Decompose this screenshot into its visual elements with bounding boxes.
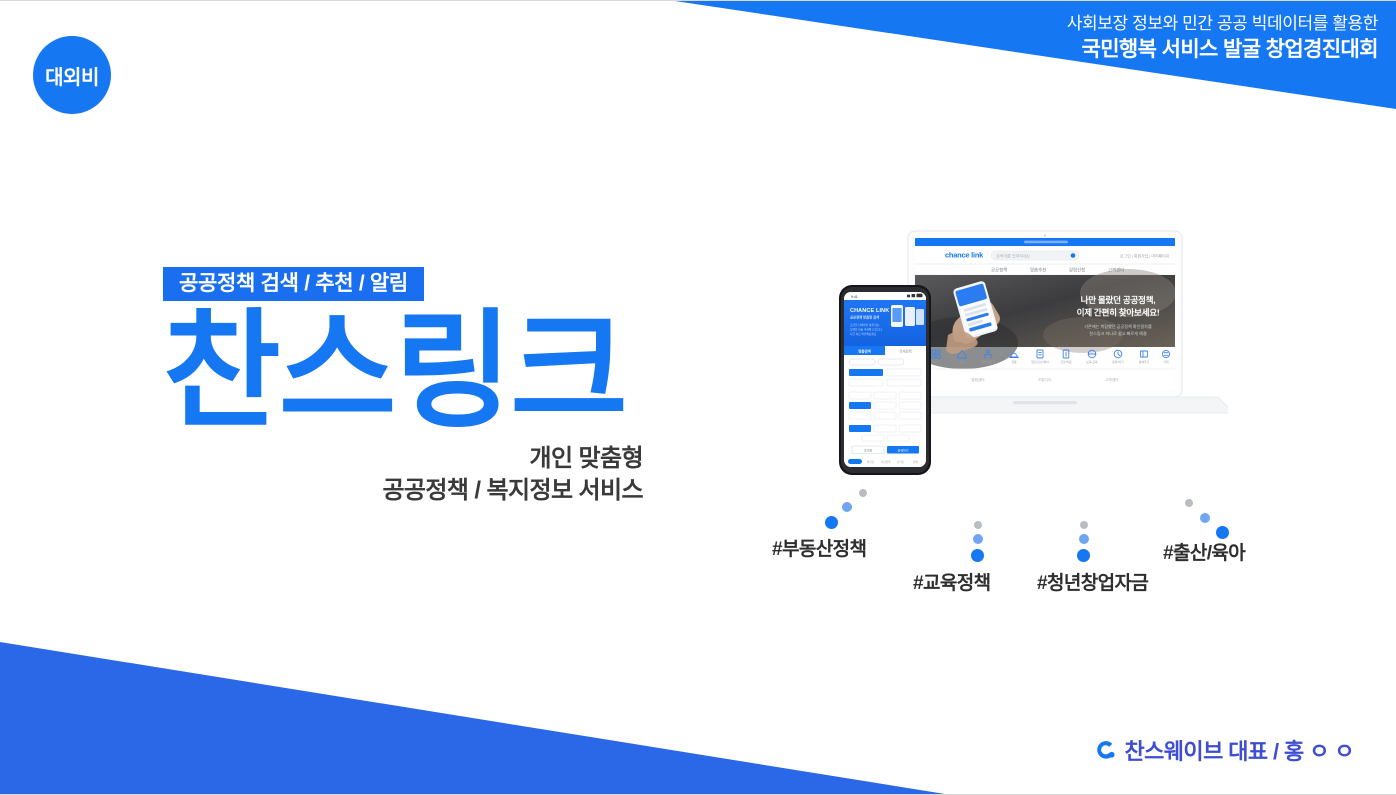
svg-text:교육: 교육: [959, 360, 965, 364]
svg-text:전체정책: 전체정책: [899, 348, 911, 353]
brand-title: 찬스링크: [163, 305, 663, 439]
svg-text:문화/여가: 문화/여가: [1112, 359, 1124, 364]
svg-text:맞춤추천: 맞춤추천: [1030, 267, 1046, 274]
svg-text:지금 바로 확인해보세요: 지금 바로 확인해보세요: [850, 332, 877, 336]
svg-text:일자리/창업: 일자리/창업: [981, 359, 995, 364]
svg-text:커뮤니티: 커뮤니티: [1038, 377, 1051, 382]
hashtag-group-0[interactable]: #부동산정책: [772, 489, 912, 559]
hashtag-label-3: #출산/육아: [1163, 538, 1245, 565]
svg-text:공공정책 맞춤형 검색: 공공정책 맞춤형 검색: [850, 315, 879, 320]
dot-medium: [1079, 534, 1089, 544]
svg-text:전체: 전체: [913, 460, 918, 464]
dot-small: [974, 521, 982, 529]
bottom-diagonal-decoration: [0, 624, 1396, 794]
svg-text:찬스링크 하나로 쉽고 빠르게 해결: 찬스링크 하나로 쉽고 빠르게 해결: [1089, 330, 1147, 336]
phone-app-title: CHANCE LINK: [850, 308, 889, 314]
svg-text:주거: 주거: [933, 359, 939, 364]
competition-header: 사회보장 정보와 민간 공공 빅데이터를 활용한 국민행복 서비스 발굴 창업경…: [1067, 13, 1378, 64]
svg-text:금융: 금융: [1011, 360, 1017, 364]
tagline-badge: 공공정책 검색 / 추천 / 알림: [163, 267, 424, 301]
svg-text:9:41: 9:41: [851, 295, 858, 299]
hashtag-label-0: #부동산정책: [772, 534, 866, 561]
svg-text:최신순: 최신순: [867, 460, 875, 464]
svg-text:기타: 기타: [1163, 359, 1169, 364]
hashtag-group-3[interactable]: #출산/육아: [1163, 499, 1303, 569]
confidential-badge-label: 대외비: [45, 61, 99, 90]
svg-text:생애주기: 생애주기: [1139, 359, 1150, 364]
hero-headline-line2: 이제 간편히 찾아보세요!: [1077, 307, 1160, 318]
competition-header-subtitle: 사회보장 정보와 민간 공공 빅데이터를 활용한: [1067, 13, 1378, 35]
phone-mockup: 9:41 CHANCE LINK 공공정책 맞춤형 검색 조건을 선택하면 내게…: [839, 285, 931, 480]
confidential-badge: 대외비: [33, 36, 111, 114]
svg-text:건강/의료: 건강/의료: [1060, 359, 1072, 364]
svg-text:조건을 선택하면 내게 맞는: 조건을 선택하면 내게 맞는: [850, 323, 880, 327]
hashtag-label-1: #교육정책: [913, 568, 991, 595]
svg-text:로그인 | 회원가입 | 마이페이지: 로그인 | 회원가입 | 마이페이지: [1120, 253, 1170, 258]
site-search-icon: [1071, 253, 1076, 258]
svg-text:마감임박: 마감임박: [881, 460, 891, 464]
dot-medium: [1200, 513, 1210, 523]
svg-text:정책을 자동 추천해 드립니다: 정책을 자동 추천해 드립니다: [850, 328, 882, 332]
footer: 찬스웨이브 대표 / 홍 ㅇ ㅇ: [1094, 734, 1354, 766]
svg-text:인기순: 인기순: [897, 460, 905, 464]
dot-medium: [842, 502, 852, 512]
chance-link-c-logo-icon: [1094, 738, 1116, 762]
dot-small: [859, 489, 867, 497]
hashtag-group-1[interactable]: #교육정책: [913, 521, 1053, 591]
svg-text:알림센터: 알림센터: [971, 377, 984, 382]
dot-medium: [973, 534, 983, 544]
dot-large: [971, 549, 984, 562]
hero-headline-line1: 나만 몰랐던 공공정책,: [1081, 294, 1156, 305]
svg-text:고객센터: 고객센터: [1105, 377, 1118, 382]
title-block: 공공정책 검색 / 추천 / 알림 찬스링크 개인 맞춤형 공공정책 / 복지정…: [163, 267, 663, 507]
svg-text:알림신청: 알림신청: [1069, 267, 1085, 273]
dot-small: [1185, 499, 1193, 507]
dot-large: [1077, 549, 1090, 562]
footer-presenter: 찬스웨이브 대표 / 홍 ㅇ ㅇ: [1125, 734, 1354, 766]
device-mockups: chance link 검색어를 입력하세요 로그인 | 회원가입 | 마이페이…: [828, 223, 1228, 488]
svg-text:검색어를 입력하세요: 검색어를 입력하세요: [996, 253, 1031, 259]
svg-text:맞춤검색: 맞춤검색: [858, 348, 870, 353]
svg-text:chance link: chance link: [945, 251, 984, 260]
hashtag-label-2: #청년창업자금: [1037, 568, 1148, 595]
mockup-illustration: chance link 검색어를 입력하세요 로그인 | 회원가입 | 마이페이…: [828, 223, 1228, 488]
subtitle: 개인 맞춤형 공공정책 / 복지정보 서비스: [163, 443, 643, 506]
competition-header-title: 국민행복 서비스 발굴 창업경진대회: [1067, 37, 1378, 64]
subtitle-line-1: 개인 맞춤형: [163, 443, 643, 475]
dot-large: [825, 516, 838, 529]
svg-text:보육/교육: 보육/교육: [1086, 360, 1098, 364]
svg-text:임신/출산/육아: 임신/출산/육아: [1031, 359, 1049, 364]
dot-small: [1080, 521, 1088, 529]
svg-text:초기화: 초기화: [864, 447, 873, 452]
svg-text:기존에는 복잡했던 공공정책 확인절차를: 기존에는 복잡했던 공공정책 확인절차를: [1084, 323, 1152, 329]
presentation-slide: 대외비 사회보장 정보와 민간 공공 빅데이터를 활용한 국민행복 서비스 발굴…: [0, 0, 1396, 795]
subtitle-line-2: 공공정책 / 복지정보 서비스: [163, 475, 643, 507]
svg-text:검색하기: 검색하기: [897, 447, 908, 452]
svg-text:공공정책: 공공정책: [991, 267, 1007, 274]
browser-url-bar: [1024, 241, 1068, 244]
